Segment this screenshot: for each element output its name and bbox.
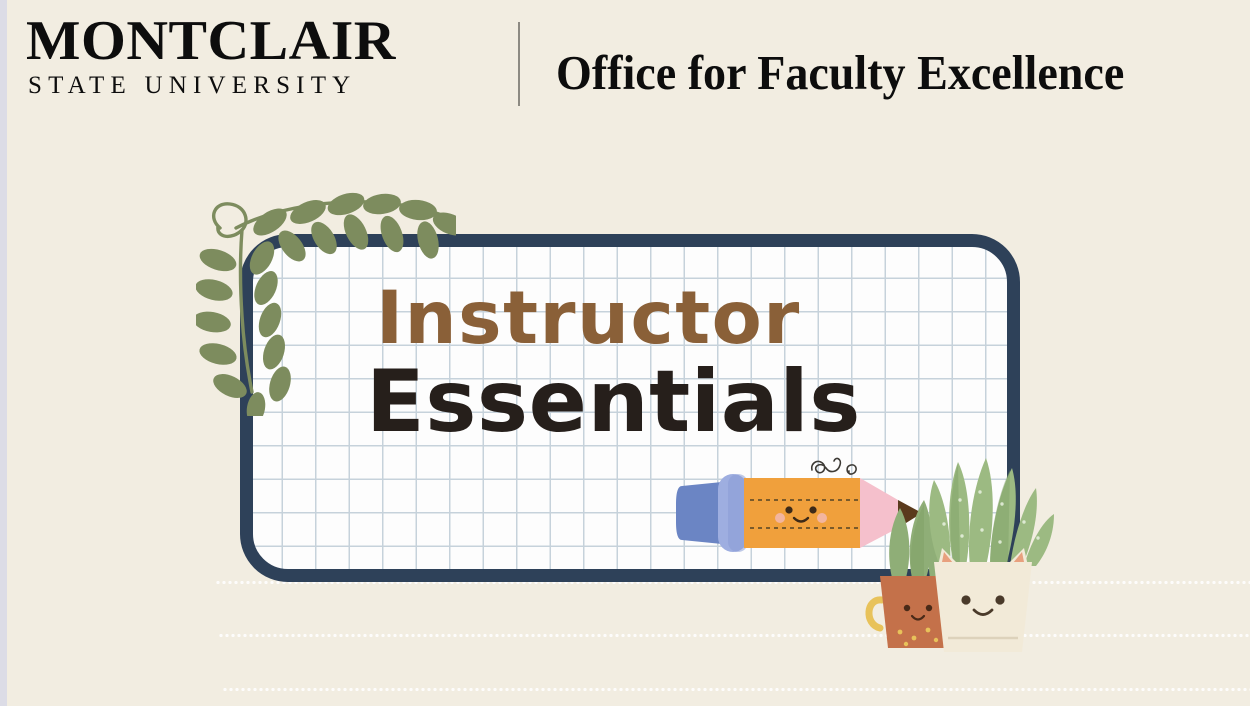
header: MONTCLAIR STATE UNIVERSITY Office for Fa…: [0, 0, 1250, 125]
montclair-logo: MONTCLAIR STATE UNIVERSITY: [26, 12, 496, 101]
dotted-line: [222, 688, 1250, 691]
header-divider: [518, 22, 520, 106]
page-title: Office for Faculty Excellence: [556, 46, 1124, 100]
plants-group: [862, 452, 1078, 662]
leaf-sprig-icon: [196, 176, 456, 416]
cat-pot-plant: [929, 458, 1054, 652]
logo-subtitle: STATE UNIVERSITY: [26, 71, 496, 101]
slide-canvas: MONTCLAIR STATE UNIVERSITY Office for Fa…: [0, 0, 1250, 706]
left-edge-strip: [0, 0, 7, 706]
dotted-line: [218, 634, 1250, 637]
logo-wordmark: MONTCLAIR: [26, 12, 510, 70]
